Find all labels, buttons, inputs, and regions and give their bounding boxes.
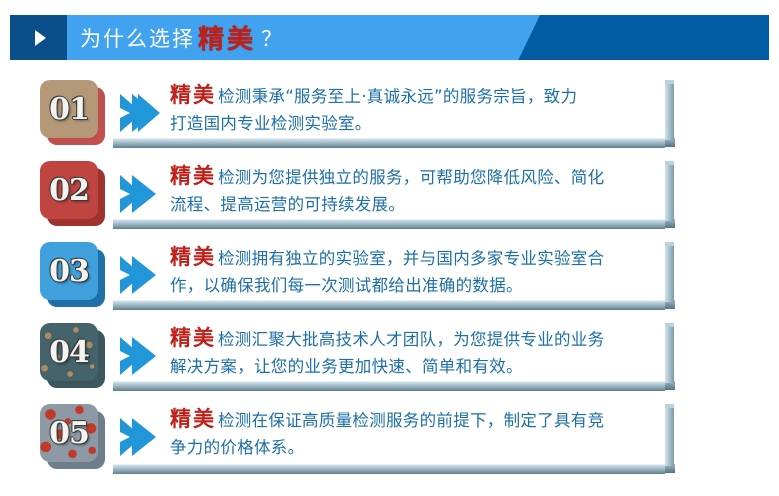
header-title-prefix: 为什么选择 bbox=[80, 23, 195, 53]
brand-name: 精美 bbox=[170, 163, 218, 188]
number-badge-face: 04 bbox=[40, 323, 98, 381]
row-ledge-bar bbox=[113, 464, 665, 474]
number-badge-label: 03 bbox=[49, 254, 89, 289]
reason-text-line1: 精美检测汇聚大批高技术人才团队，为您提供专业的业务 bbox=[170, 324, 658, 353]
brand-name: 精美 bbox=[170, 82, 218, 107]
number-badge: 04 bbox=[40, 323, 112, 393]
reason-text-line2: 解决方案，让您的业务更加快速、简单和有效。 bbox=[170, 353, 658, 380]
reason-text-line2: 打造国内专业检测实验室。 bbox=[170, 110, 658, 137]
brand-name: 精美 bbox=[170, 244, 218, 269]
number-badge: 02 bbox=[40, 161, 112, 231]
number-badge-label: 04 bbox=[49, 335, 89, 370]
section-header: 为什么选择 精美 ？ bbox=[10, 15, 769, 60]
row-right-post-cap bbox=[665, 404, 674, 408]
number-badge: 01 bbox=[40, 80, 112, 150]
reason-text-line1: 精美检测为您提供独立的服务，可帮助您降低风险、简化 bbox=[170, 162, 658, 191]
reason-text: 精美检测秉承“服务至上·真诚永远”的服务宗旨，致力 打造国内专业检测实验室。 bbox=[170, 81, 658, 137]
number-badge-label: 02 bbox=[49, 173, 89, 208]
play-triangle-icon bbox=[10, 15, 67, 60]
row-right-post bbox=[665, 325, 674, 383]
reason-text: 精美检测为您提供独立的服务，可帮助您降低风险、简化 流程、提高运营的可持续发展。 bbox=[170, 162, 658, 218]
reason-text-line1: 精美检测秉承“服务至上·真诚永远”的服务宗旨，致力 bbox=[170, 81, 658, 110]
brand-name: 精美 bbox=[170, 406, 218, 431]
row-right-post bbox=[665, 244, 674, 302]
chevron-right-icon bbox=[118, 254, 164, 296]
reason-text-line2: 争力的价格体系。 bbox=[170, 434, 658, 461]
chevron-right-icon bbox=[118, 92, 164, 134]
row-right-post-cap bbox=[665, 80, 674, 84]
reason-text: 精美检测汇聚大批高技术人才团队，为您提供专业的业务 解决方案，让您的业务更加快速… bbox=[170, 324, 658, 380]
number-badge: 03 bbox=[40, 242, 112, 312]
number-badge-face: 01 bbox=[40, 80, 98, 138]
row-ledge-bar bbox=[113, 381, 665, 391]
reason-text-line2: 作，以确保我们每一次测试都给出准确的数据。 bbox=[170, 272, 658, 299]
chevron-right-icon bbox=[118, 173, 164, 215]
reason-line1-text: 检测为您提供独立的服务，可帮助您降低风险、简化 bbox=[218, 168, 604, 187]
row-right-post bbox=[665, 163, 674, 221]
reason-text: 精美检测拥有独立的实验室，并与国内多家专业实验室合 作，以确保我们每一次测试都给… bbox=[170, 243, 658, 299]
header-title-suffix: ？ bbox=[259, 23, 283, 53]
row-ledge-bar bbox=[113, 300, 665, 310]
row-right-post bbox=[665, 406, 674, 466]
play-triangle-glyph bbox=[35, 30, 46, 46]
number-badge-face: 03 bbox=[40, 242, 98, 300]
reason-line1-text: 检测在保证高质量检测服务的前提下，制定了具有竞 bbox=[218, 411, 604, 430]
row-right-post bbox=[665, 82, 674, 140]
reason-line1-text: 检测秉承“服务至上·真诚永远”的服务宗旨，致力 bbox=[218, 87, 577, 106]
row-ledge-bar bbox=[113, 138, 665, 148]
reason-line1-text: 检测拥有独立的实验室，并与国内多家专业实验室合 bbox=[218, 249, 604, 268]
list-item: 02 精美检测为您提供独立的服务，可帮助您降低风险、简化 流程、提高运营的可持续… bbox=[0, 157, 779, 238]
chevron-right-icon bbox=[118, 416, 164, 458]
page-root: { "header": { "icon": "play-triangle-ico… bbox=[0, 0, 779, 496]
reasons-list: 01 精美检测秉承“服务至上·真诚永远”的服务宗旨，致力 打造国内专业检测实验室… bbox=[0, 76, 779, 485]
row-right-post-cap bbox=[665, 161, 674, 165]
reason-text-line1: 精美检测拥有独立的实验室，并与国内多家专业实验室合 bbox=[170, 243, 658, 272]
page-title: 为什么选择 精美 ？ bbox=[80, 15, 283, 60]
list-item: 04 精美检测汇聚大批高技术人才团队，为您提供专业的业务 解决方案，让您的业务更… bbox=[0, 319, 779, 400]
number-badge-label: 05 bbox=[49, 416, 89, 451]
list-item: 03 精美检测拥有独立的实验室，并与国内多家专业实验室合 作，以确保我们每一次测… bbox=[0, 238, 779, 319]
number-badge-face: 05 bbox=[40, 404, 98, 462]
row-right-post-cap bbox=[665, 323, 674, 327]
row-ledge-bar bbox=[113, 219, 665, 229]
reason-text-line1: 精美检测在保证高质量检测服务的前提下，制定了具有竞 bbox=[170, 405, 658, 434]
number-badge: 05 bbox=[40, 404, 112, 474]
reason-line1-text: 检测汇聚大批高技术人才团队，为您提供专业的业务 bbox=[218, 330, 604, 349]
reason-text: 精美检测在保证高质量检测服务的前提下，制定了具有竞 争力的价格体系。 bbox=[170, 405, 658, 461]
header-title-brand: 精美 bbox=[195, 19, 259, 56]
row-right-post-cap bbox=[665, 242, 674, 246]
list-item: 05 精美检测在保证高质量检测服务的前提下，制定了具有竞 争力的价格体系。 bbox=[0, 400, 779, 485]
list-item: 01 精美检测秉承“服务至上·真诚永远”的服务宗旨，致力 打造国内专业检测实验室… bbox=[0, 76, 779, 157]
brand-name: 精美 bbox=[170, 325, 218, 350]
number-badge-face: 02 bbox=[40, 161, 98, 219]
reason-text-line2: 流程、提高运营的可持续发展。 bbox=[170, 191, 658, 218]
number-badge-label: 01 bbox=[49, 92, 89, 127]
chevron-right-icon bbox=[118, 335, 164, 377]
